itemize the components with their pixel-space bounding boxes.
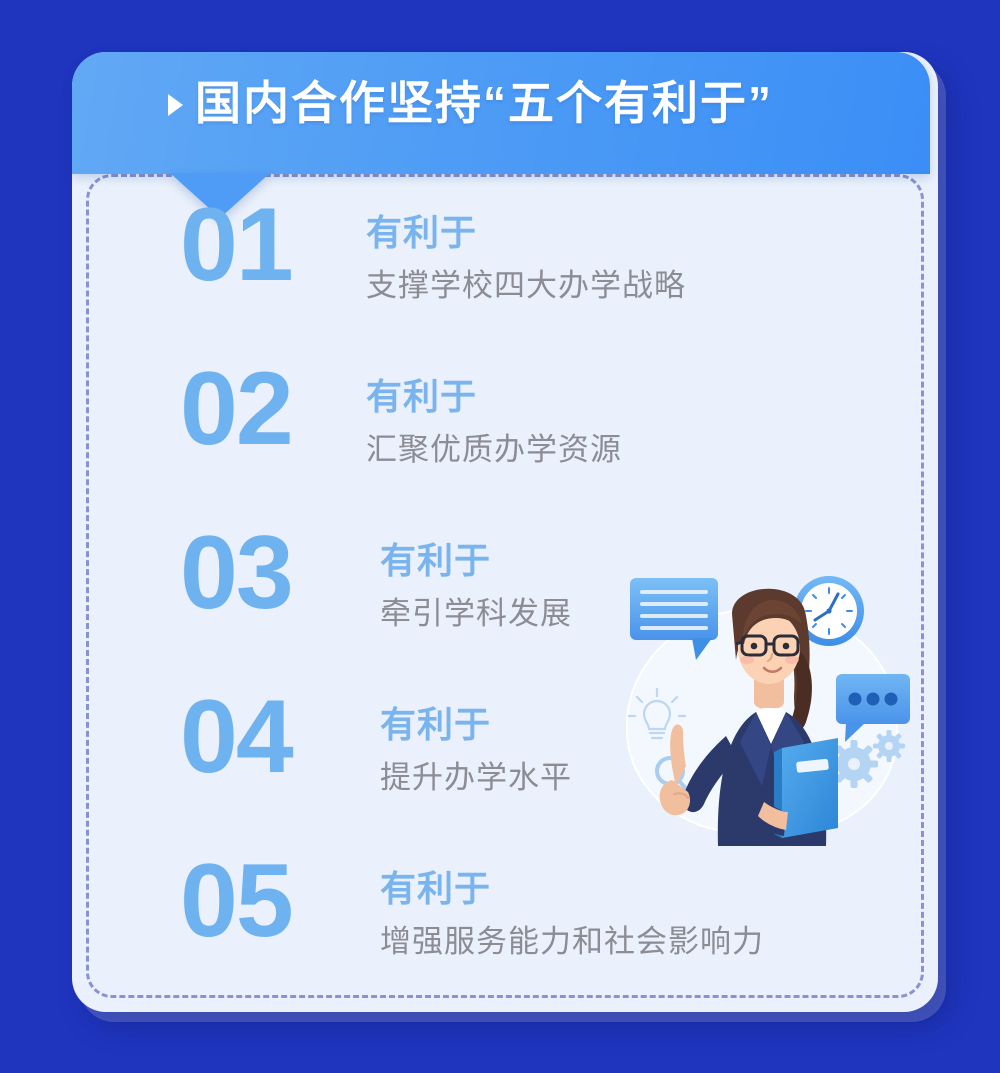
item-lead: 有利于 bbox=[380, 702, 572, 747]
item-text: 有利于 牵引学科发展 bbox=[380, 524, 572, 634]
item-lead: 有利于 bbox=[366, 210, 686, 255]
page-title: 国内合作坚持“五个有利于” bbox=[195, 80, 773, 126]
item-text: 有利于 增强服务能力和社会影响力 bbox=[380, 852, 764, 962]
header-title-row: 国内合作坚持“五个有利于” bbox=[168, 80, 773, 126]
item-desc: 汇聚优质办学资源 bbox=[366, 431, 622, 470]
item-text: 有利于 提升办学水平 bbox=[380, 688, 572, 798]
item-lead: 有利于 bbox=[380, 866, 764, 911]
item-text: 有利于 汇聚优质办学资源 bbox=[366, 360, 622, 470]
list-item: 01 有利于 支撑学校四大办学战略 bbox=[72, 196, 938, 360]
item-desc: 支撑学校四大办学战略 bbox=[366, 267, 686, 306]
list-item: 05 有利于 增强服务能力和社会影响力 bbox=[72, 852, 938, 1016]
item-desc: 牵引学科发展 bbox=[380, 595, 572, 634]
triangle-right-icon bbox=[168, 94, 183, 116]
item-number: 01 bbox=[72, 196, 260, 296]
infographic-root: 国内合作坚持“五个有利于” 01 有利于 支撑学校四大办学战略 02 有利于 汇… bbox=[0, 0, 1000, 1073]
speech-bubble-lines-icon bbox=[630, 578, 718, 660]
gears-icon bbox=[830, 730, 905, 788]
item-number: 03 bbox=[72, 524, 260, 624]
item-number: 05 bbox=[72, 852, 260, 952]
businesswoman-pointing-illustration bbox=[614, 556, 930, 846]
item-number: 02 bbox=[72, 360, 260, 460]
illustration-svg bbox=[614, 556, 930, 846]
item-desc: 提升办学水平 bbox=[380, 759, 572, 798]
speech-bubble-dots-icon bbox=[836, 674, 910, 742]
item-number: 04 bbox=[72, 688, 260, 788]
item-lead: 有利于 bbox=[380, 538, 572, 583]
item-desc: 增强服务能力和社会影响力 bbox=[380, 923, 764, 962]
item-lead: 有利于 bbox=[366, 374, 622, 419]
pointing-hand bbox=[660, 725, 690, 816]
list-item: 02 有利于 汇聚优质办学资源 bbox=[72, 360, 938, 524]
item-text: 有利于 支撑学校四大办学战略 bbox=[366, 196, 686, 306]
